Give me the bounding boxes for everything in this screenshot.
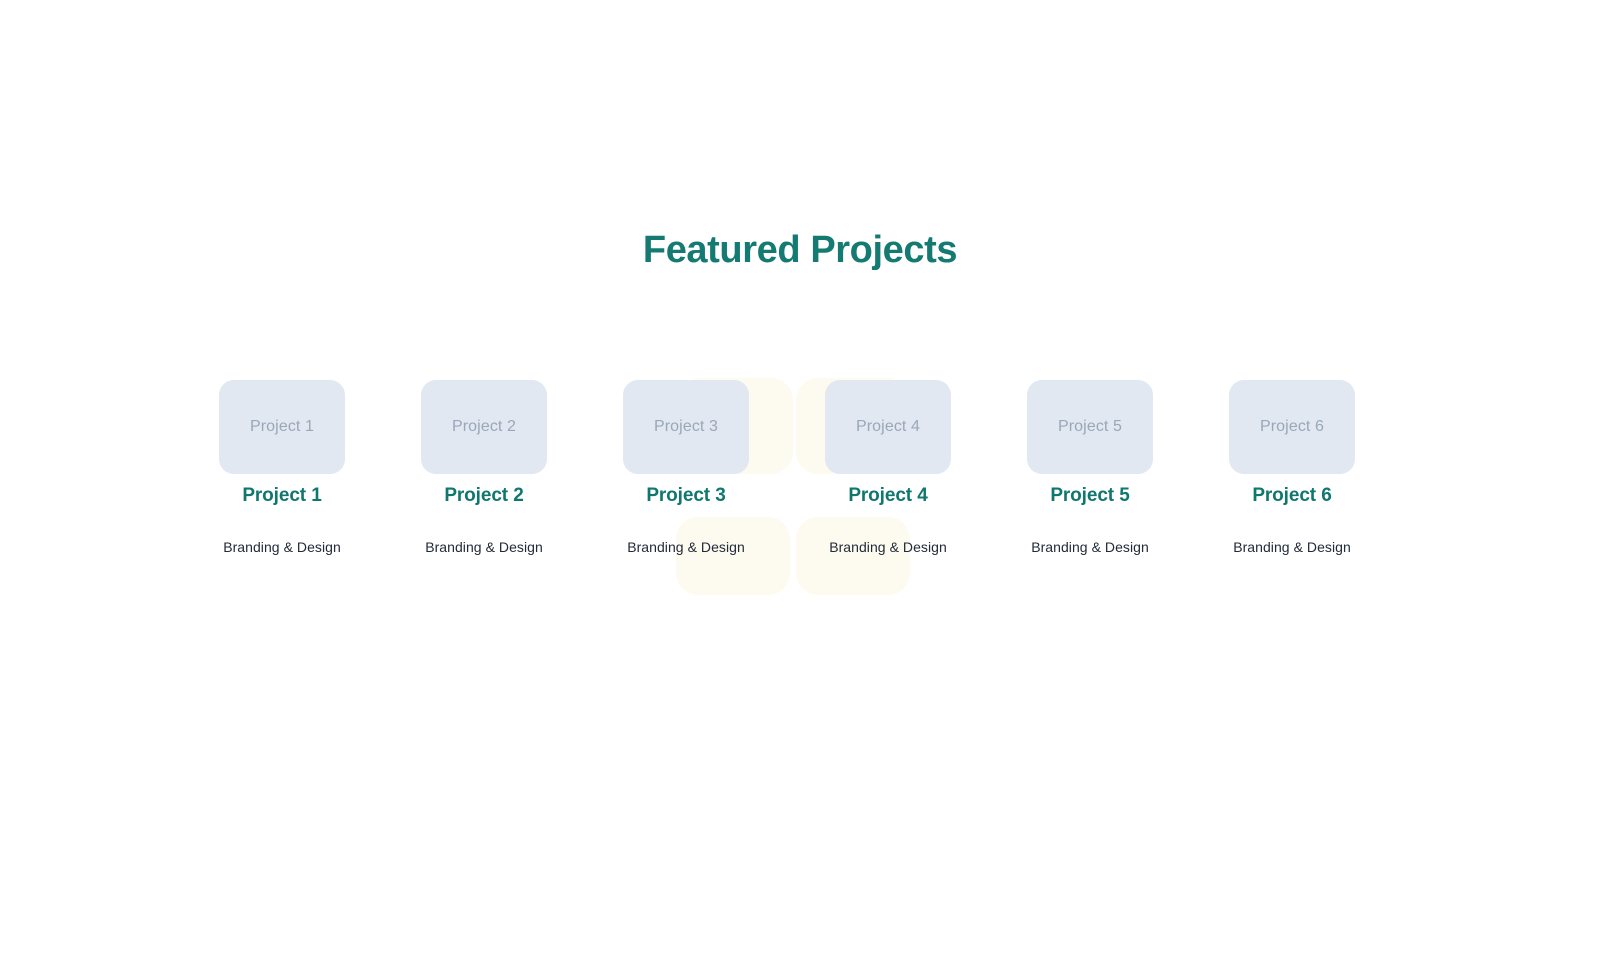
page-title: Featured Projects [0,224,1600,276]
project-card[interactable]: Project 2Project 2Branding & Design [421,374,623,614]
project-card[interactable]: Project 5Project 5Branding & Design [1027,374,1229,614]
projects-grid: Project 1Project 1Branding & DesignProje… [0,374,1600,614]
project-thumbnail[interactable]: Project 6 [1229,380,1355,474]
project-thumbnail[interactable]: Project 1 [219,380,345,474]
project-thumbnail[interactable]: Project 3 [623,380,749,474]
project-category: Branding & Design [811,537,965,557]
project-category: Branding & Design [407,537,561,557]
project-thumbnail[interactable]: Project 4 [825,380,951,474]
project-category: Branding & Design [1215,537,1369,557]
project-thumbnail[interactable]: Project 2 [421,380,547,474]
project-thumbnail-label: Project 3 [654,417,718,437]
project-card[interactable]: Project 3Project 3Branding & Design [623,374,825,614]
project-card[interactable]: Project 1Project 1Branding & Design [219,374,421,614]
project-title[interactable]: Project 1 [219,483,345,509]
project-title[interactable]: Project 3 [623,483,749,509]
featured-projects-page: Featured Projects Project 1Project 1Bran… [0,0,1600,978]
project-thumbnail-label: Project 1 [250,417,314,437]
project-title[interactable]: Project 4 [825,483,951,509]
project-title[interactable]: Project 5 [1027,483,1153,509]
project-category: Branding & Design [205,537,359,557]
project-category: Branding & Design [609,537,763,557]
project-category: Branding & Design [1013,537,1167,557]
project-title[interactable]: Project 6 [1229,483,1355,509]
project-thumbnail-label: Project 4 [856,417,920,437]
project-thumbnail-label: Project 2 [452,417,516,437]
project-thumbnail[interactable]: Project 5 [1027,380,1153,474]
project-thumbnail-label: Project 5 [1058,417,1122,437]
project-card[interactable]: Project 4Project 4Branding & Design [825,374,1027,614]
project-card[interactable]: Project 6Project 6Branding & Design [1229,374,1431,614]
project-thumbnail-label: Project 6 [1260,417,1324,437]
project-title[interactable]: Project 2 [421,483,547,509]
